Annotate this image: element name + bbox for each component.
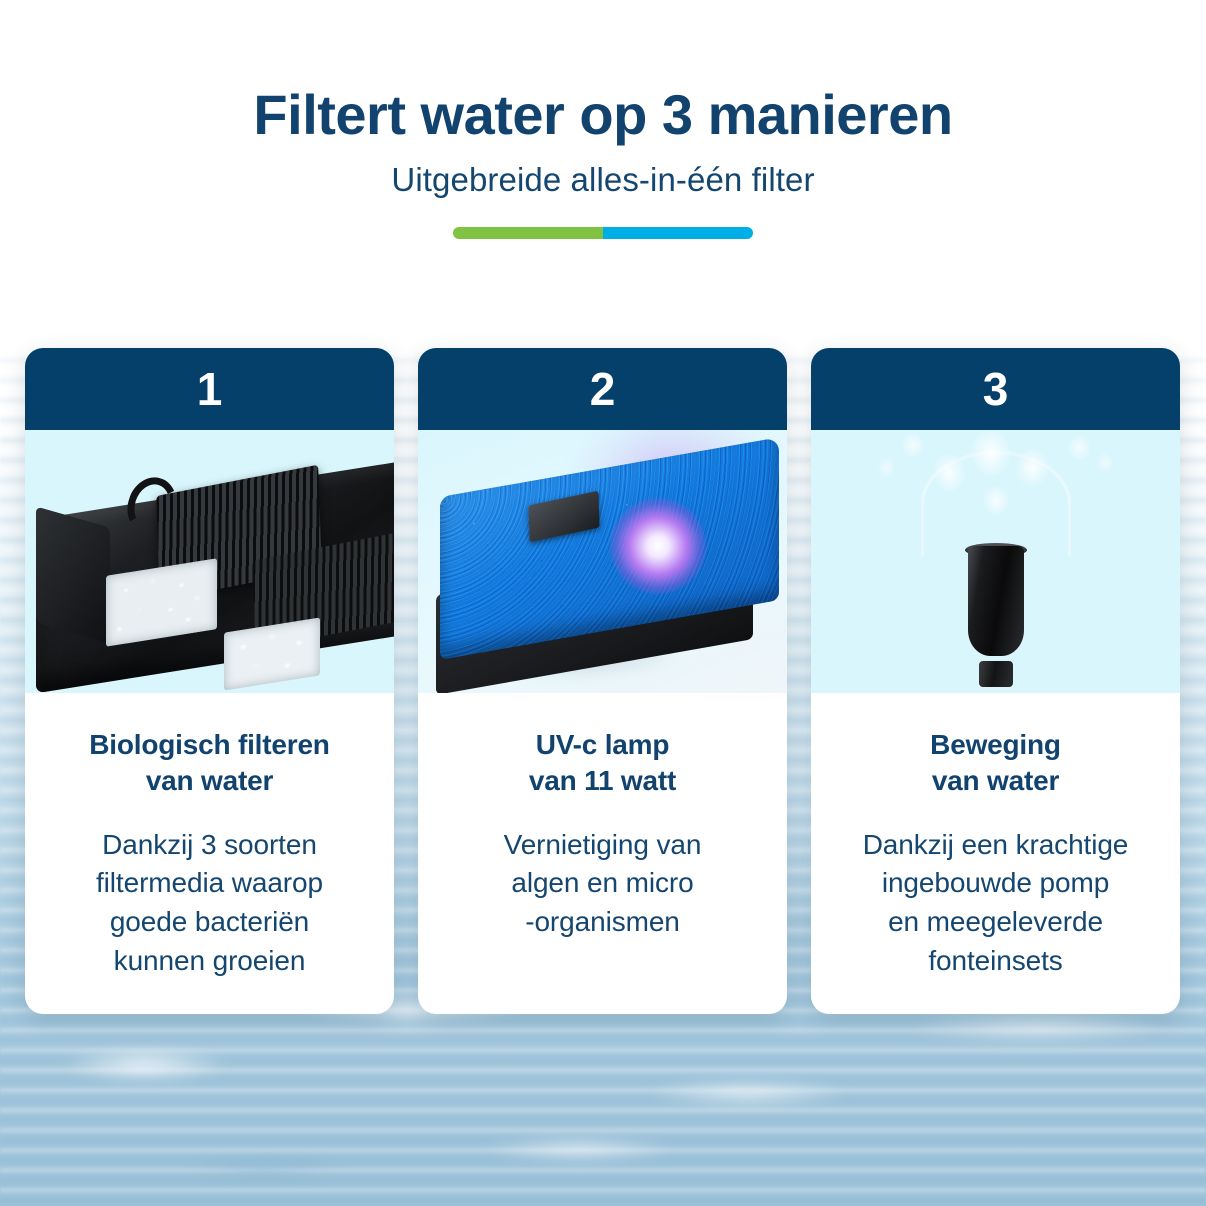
feature-card-2[interactable]: 2 UV-c lamp van 11 watt Vernietiging van… bbox=[418, 348, 787, 1014]
card-2-title: UV-c lamp van 11 watt bbox=[438, 727, 767, 800]
card-1-description: Dankzij 3 soorten filtermedia waarop goe… bbox=[45, 826, 374, 981]
uv-lamp-light-icon bbox=[610, 498, 706, 594]
infographic-page: Filtert water op 3 manieren Uitgebreide … bbox=[0, 0, 1206, 1206]
card-3-title: Beweging van water bbox=[831, 727, 1160, 800]
feature-card-list: 1 Biologisch filteren van water Dankzij … bbox=[25, 348, 1181, 1014]
water-stream-lines bbox=[921, 451, 1071, 556]
fountain-nozzle bbox=[968, 546, 1024, 656]
card-1-number: 1 bbox=[197, 366, 223, 412]
tray-left-wall bbox=[36, 506, 110, 643]
nozzle-base-foot bbox=[979, 661, 1013, 687]
divider-wrapper bbox=[0, 227, 1206, 239]
card-3-header: 3 bbox=[811, 348, 1180, 430]
blue-foam-with-uv-light-photo bbox=[418, 430, 787, 693]
page-subtitle: Uitgebreide alles-in-één filter bbox=[0, 161, 1206, 199]
card-3-description: Dankzij een krachtige ingebouwde pomp en… bbox=[831, 826, 1160, 981]
card-2-number: 2 bbox=[590, 366, 616, 412]
card-3-number: 3 bbox=[983, 366, 1009, 412]
page-header: Filtert water op 3 manieren Uitgebreide … bbox=[0, 86, 1206, 239]
card-2-header: 2 bbox=[418, 348, 787, 430]
fountain-nozzle-water-spray-photo bbox=[811, 430, 1180, 693]
feature-card-3[interactable]: 3 Beweging van water Dankzij een krachti… bbox=[811, 348, 1180, 1014]
filter-tray-with-bio-media-photo bbox=[25, 430, 394, 693]
divider-blue-half bbox=[603, 227, 753, 239]
card-1-header: 1 bbox=[25, 348, 394, 430]
card-3-body: Beweging van water Dankzij een krachtige… bbox=[811, 693, 1180, 1014]
card-2-body: UV-c lamp van 11 watt Vernietiging van a… bbox=[418, 693, 787, 1014]
page-title: Filtert water op 3 manieren bbox=[0, 86, 1206, 145]
divider-green-half bbox=[453, 227, 603, 239]
accent-divider bbox=[453, 227, 753, 239]
card-1-title: Biologisch filteren van water bbox=[45, 727, 374, 800]
feature-card-1[interactable]: 1 Biologisch filteren van water Dankzij … bbox=[25, 348, 394, 1014]
card-1-body: Biologisch filteren van water Dankzij 3 … bbox=[25, 693, 394, 1014]
card-2-description: Vernietiging van algen en micro -organis… bbox=[438, 826, 767, 942]
